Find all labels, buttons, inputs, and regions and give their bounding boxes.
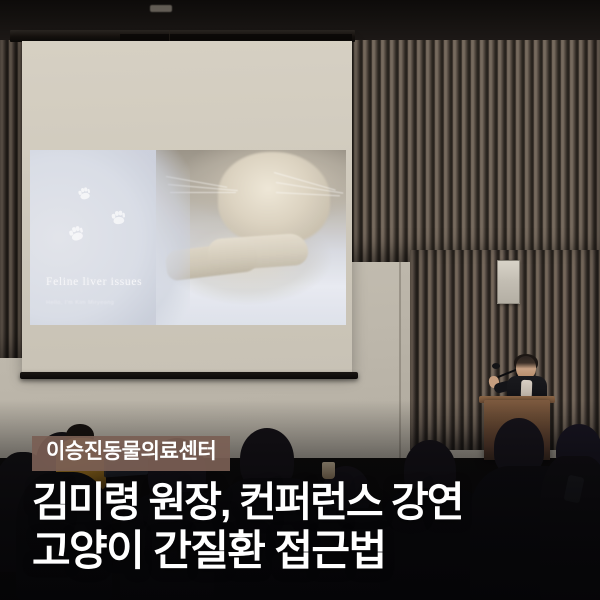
cat-paw [207,233,309,272]
slide-subtitle: Hello, I'm Kim Miryeong [46,300,114,306]
presentation-slide: Feline liver issues Hello, I'm Kim Mirye… [30,150,346,325]
paw-print-icon [77,186,93,200]
headline-line-2: 고양이 간질환 접근법 [32,528,600,574]
projection-screen-casing-inner [120,34,352,40]
text-overlay: 이승진동물의료센터 김미령 원장, 컨퍼런스 강연 고양이 간질환 접근법 [0,436,600,600]
wooden-slat-wall-left [0,28,24,358]
wall-mounted-sign [497,260,520,304]
microphone-head [492,363,500,369]
clinic-name-badge: 이승진동물의료센터 [32,436,230,471]
slide-left-panel [30,150,190,325]
projection-screen-weight-bar [20,372,358,379]
ceiling-light [150,5,172,12]
cat-head [218,152,330,244]
wooden-slat-wall-upper [345,12,600,262]
headline-line-1: 김미령 원장, 컨퍼런스 강연 [32,480,600,525]
paw-print-icon [110,210,127,225]
paw-print-icon [67,225,86,243]
slide-title: Feline liver issues [46,276,142,288]
event-photo-card: Feline liver issues Hello, I'm Kim Mirye… [0,0,600,600]
